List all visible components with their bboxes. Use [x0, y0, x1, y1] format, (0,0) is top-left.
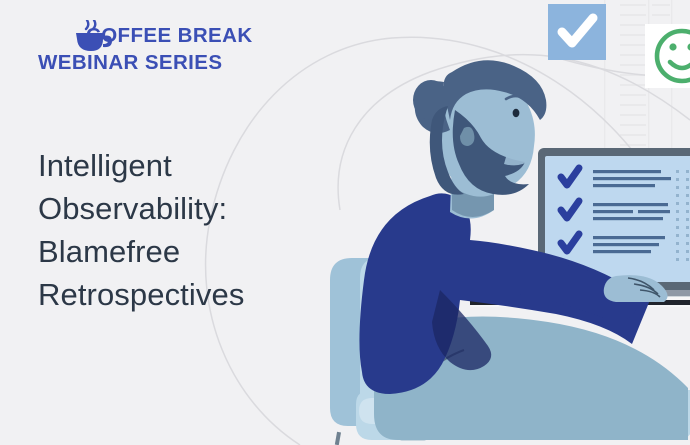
checkmark-badge: [548, 4, 606, 60]
headline-line-4: Retrospectives: [38, 273, 348, 316]
headline-line-2: Observability:: [38, 187, 348, 230]
page-title: Intelligent Observability: Blamefree Ret…: [38, 144, 348, 316]
headline-line-3: Blamefree: [38, 230, 348, 273]
smiley-badge: [645, 24, 690, 88]
text-column: COFFEE BREAK WEBINAR SERIES Intelligent …: [0, 0, 360, 445]
headline-line-1: Intelligent: [38, 144, 348, 187]
webinar-banner: COFFEE BREAK WEBINAR SERIES Intelligent …: [0, 0, 690, 445]
person-eye: [513, 109, 520, 117]
series-heading: COFFEE BREAK WEBINAR SERIES: [38, 22, 348, 76]
coffee-cup-icon: [72, 20, 118, 54]
smiley-eye-left: [669, 43, 676, 50]
